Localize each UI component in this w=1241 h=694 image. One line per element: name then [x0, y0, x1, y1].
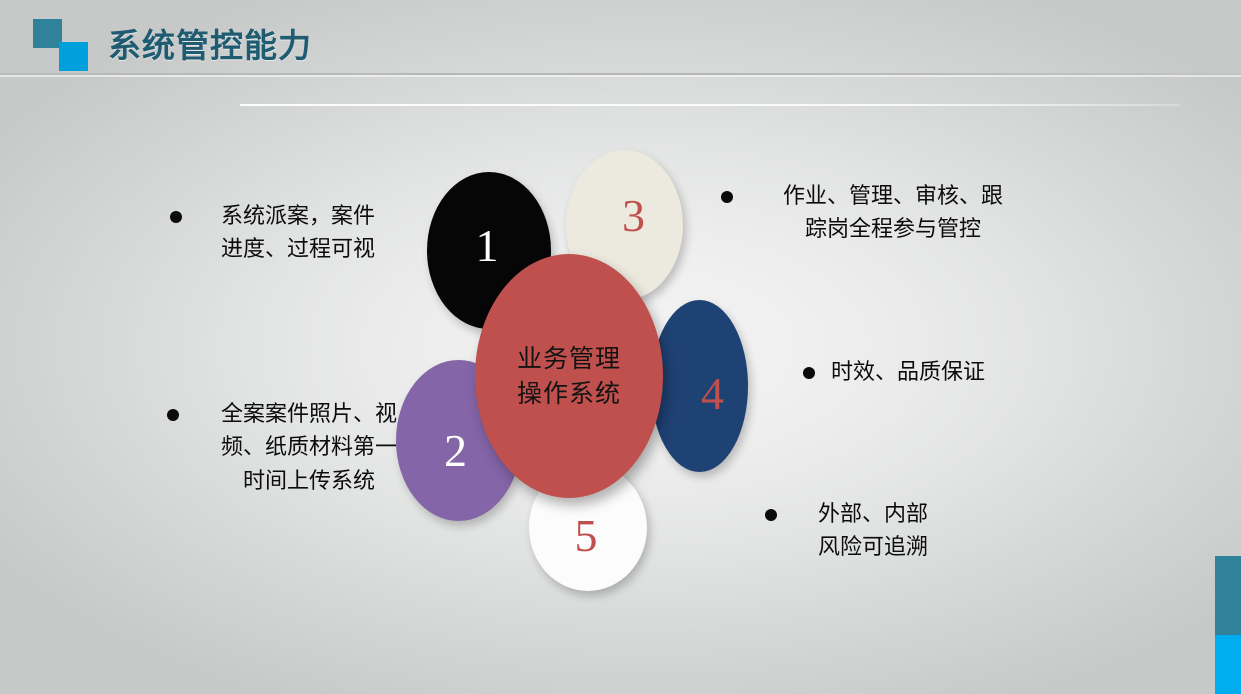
bullet-item-1: 系统派案，案件 进度、过程可视	[170, 200, 420, 267]
bullet-dot-icon	[803, 367, 815, 379]
bullet-dot-icon	[765, 509, 777, 521]
center-label-line-2: 操作系统	[517, 376, 621, 412]
petal-4-number: 4	[701, 371, 724, 417]
petal-3-number: 3	[622, 193, 645, 239]
bullet-dot-icon	[170, 211, 182, 223]
bullet-dot-icon	[167, 409, 179, 421]
petal-2-number: 2	[444, 428, 467, 474]
petal-4[interactable]: 4	[651, 300, 748, 472]
center-label-line-1: 业务管理	[517, 341, 621, 377]
bullet-text-3: 作业、管理、审核、跟 踪岗全程参与管控	[749, 180, 1037, 247]
petal-diagram: 1 3 4 2 5 业务管理 操作系统	[0, 0, 1241, 694]
petal-5-number: 5	[575, 513, 598, 559]
bullet-dot-icon	[721, 191, 733, 203]
bullet-text-2: 全案案件照片、视 频、纸质材料第一 时间上传系统	[195, 398, 423, 498]
slide-canvas: 系统管控能力 1 3 4 2 5 业务管理 操作系统 系统派案，案件 进度、过程…	[0, 0, 1241, 694]
bullet-item-4: 时效、品质保证	[803, 356, 1053, 389]
petal-1-number: 1	[476, 223, 499, 269]
corner-accent-teal	[1215, 556, 1241, 635]
bullet-text-4: 时效、品质保证	[831, 356, 985, 389]
bullet-text-1: 系统派案，案件 进度、过程可视	[198, 200, 398, 267]
bullet-item-5: 外部、内部 风险可追溯	[765, 498, 1015, 565]
bullet-item-3: 作业、管理、审核、跟 踪岗全程参与管控	[721, 180, 1051, 247]
bullet-item-2: 全案案件照片、视 频、纸质材料第一 时间上传系统	[167, 398, 429, 498]
corner-accent-blue	[1215, 635, 1241, 694]
petal-center[interactable]: 业务管理 操作系统	[475, 254, 663, 498]
bullet-text-5: 外部、内部 风险可追溯	[793, 498, 953, 565]
